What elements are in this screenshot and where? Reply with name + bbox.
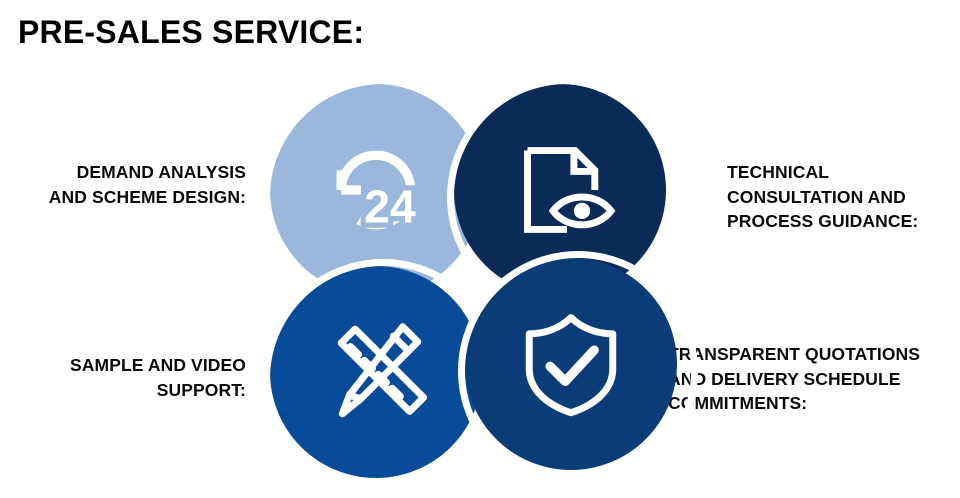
circle-transparent-quotations[interactable] <box>465 258 677 470</box>
label-line: TECHNICAL <box>727 160 918 185</box>
icon-24-text: 24 <box>364 180 416 232</box>
label-line: CONSULTATION AND <box>727 185 918 210</box>
circle-cluster: 24 <box>258 78 678 498</box>
infographic-page: PRE-SALES SERVICE: 24 <box>0 0 960 498</box>
label-line: DEMAND ANALYSIS <box>49 160 246 185</box>
label-line: AND SCHEME DESIGN: <box>49 185 246 210</box>
circle-sample-video-support[interactable] <box>270 266 482 478</box>
label-line: COMMITMENTS: <box>668 391 920 416</box>
label-line: PROCESS GUIDANCE: <box>727 209 918 234</box>
label-sample-video-support: SAMPLE AND VIDEO SUPPORT: <box>70 353 246 402</box>
label-demand-analysis: DEMAND ANALYSIS AND SCHEME DESIGN: <box>49 160 246 209</box>
label-line: SUPPORT: <box>70 378 246 403</box>
label-technical-consultation: TECHNICAL CONSULTATION AND PROCESS GUIDA… <box>727 160 918 234</box>
clock-24-rotate-arrow-icon: 24 <box>318 132 434 248</box>
shield-check-icon <box>513 306 629 422</box>
page-title: PRE-SALES SERVICE: <box>18 14 364 51</box>
label-line: SAMPLE AND VIDEO <box>70 353 246 378</box>
label-transparent-quotations: TRANSPARENT QUOTATIONS AND DELIVERY SCHE… <box>668 342 920 416</box>
label-line: TRANSPARENT QUOTATIONS <box>668 342 920 367</box>
document-eye-icon <box>502 132 618 248</box>
circle-demand-analysis[interactable]: 24 <box>270 84 482 296</box>
pencil-ruler-icon <box>318 314 434 430</box>
label-line: AND DELIVERY SCHEDULE <box>668 367 920 392</box>
